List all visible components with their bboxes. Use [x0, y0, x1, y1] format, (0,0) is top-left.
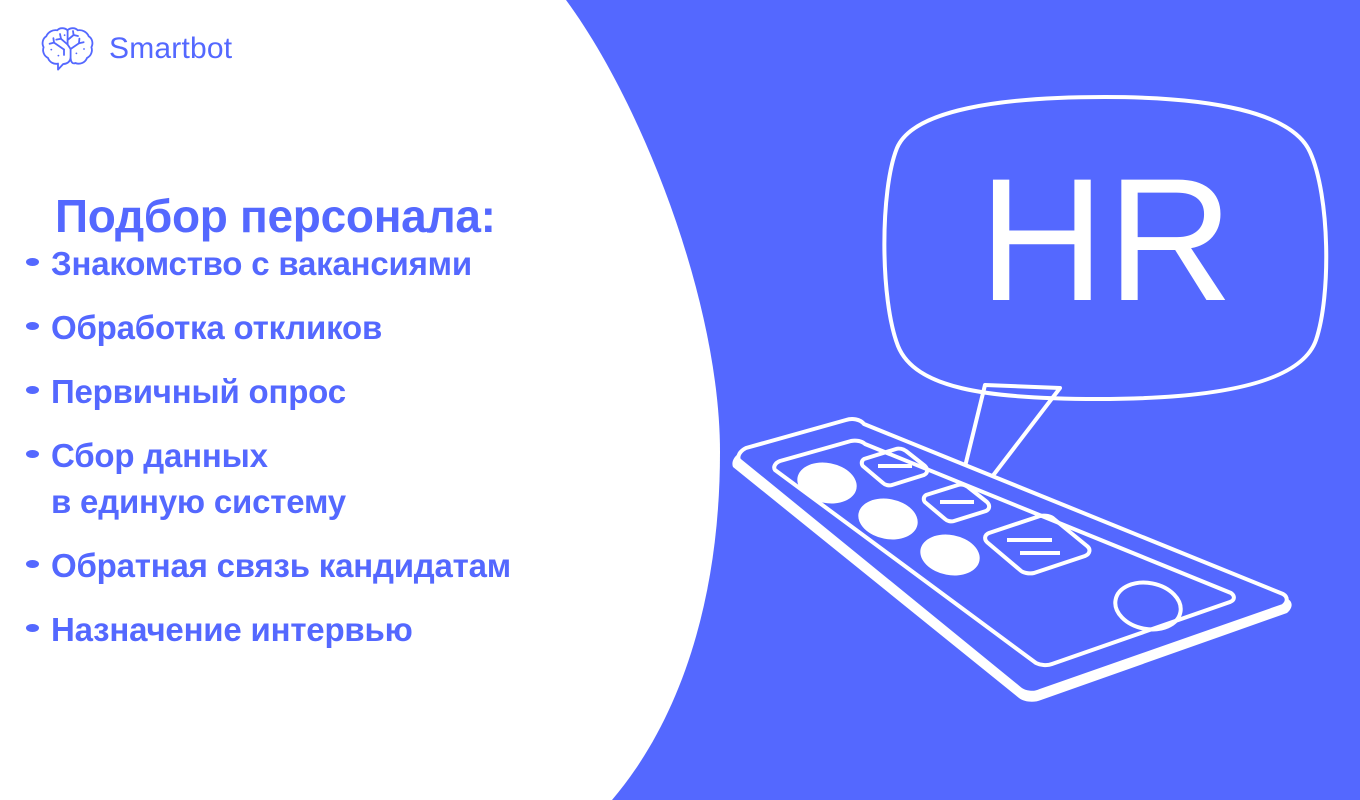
list-item-label: Обратная связь кандидатам — [51, 543, 511, 590]
phone-illustration — [732, 419, 1291, 702]
bullet-dot-icon — [26, 624, 39, 632]
bullet-dot-icon — [26, 322, 39, 330]
list-item: Назначение интервью — [26, 607, 666, 654]
list-item: Сбор данных в единую систему — [26, 433, 666, 527]
list-item-label: Сбор данных в единую систему — [51, 433, 346, 527]
page-title: Подбор персонала: — [55, 189, 496, 243]
bullet-dot-icon — [26, 450, 39, 458]
list-item-label: Первичный опрос — [51, 369, 346, 416]
chat-bubble — [862, 449, 927, 486]
avatar — [855, 494, 922, 545]
feature-list: Знакомство с вакансиями Обработка отклик… — [26, 241, 666, 671]
brand-name: Smartbot — [109, 34, 232, 64]
speech-bubble-tail — [960, 385, 1060, 503]
home-button — [1111, 577, 1185, 635]
list-item-label: Назначение интервью — [51, 607, 413, 654]
poster-canvas: HR — [0, 0, 1360, 800]
avatar — [794, 458, 861, 509]
bullet-dot-icon — [26, 386, 39, 394]
list-item: Знакомство с вакансиями — [26, 241, 666, 288]
list-item: Первичный опрос — [26, 369, 666, 416]
list-item: Обработка откликов — [26, 305, 666, 352]
list-item-label: Обработка откликов — [51, 305, 382, 352]
list-item: Обратная связь кандидатам — [26, 543, 666, 590]
chat-bubble — [924, 485, 989, 522]
brand-logo[interactable]: Smartbot — [40, 26, 232, 72]
speech-bubble — [884, 97, 1326, 399]
bullet-dot-icon — [26, 560, 39, 568]
speech-bubble-label: HR — [979, 143, 1236, 338]
brain-icon — [40, 26, 96, 72]
bullet-dot-icon — [26, 258, 39, 266]
avatar — [917, 530, 984, 581]
chat-bubble — [985, 516, 1089, 574]
list-item-label: Знакомство с вакансиями — [51, 241, 472, 288]
